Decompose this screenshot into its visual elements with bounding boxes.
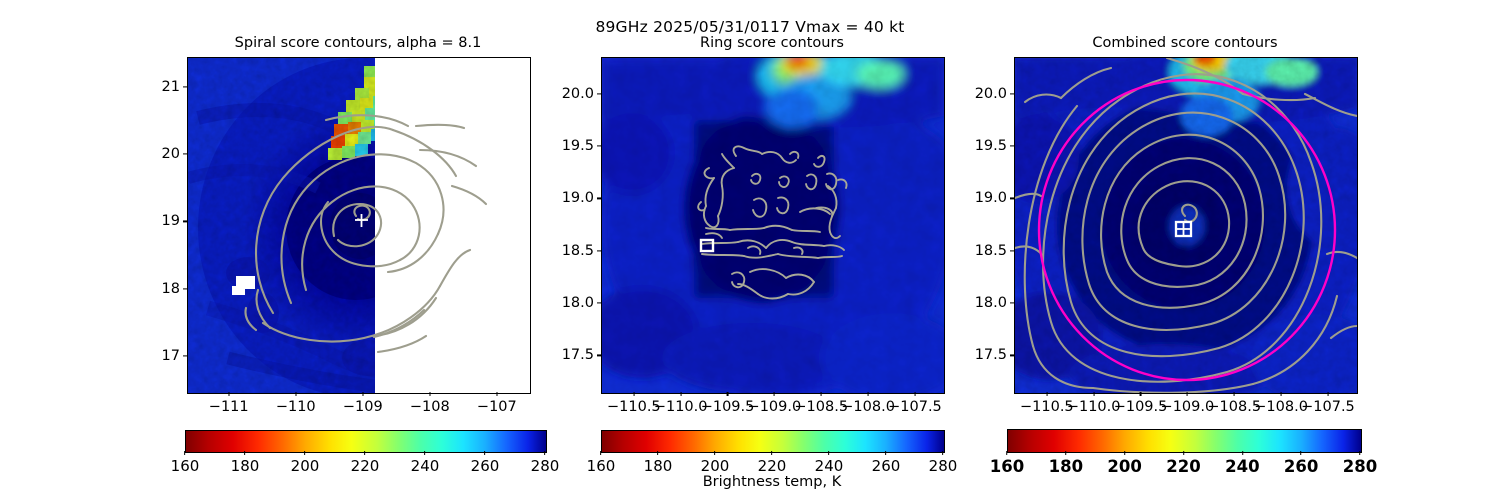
- colorbar-spiral-gradient: [185, 430, 547, 453]
- ring-center-marker: [602, 58, 944, 393]
- panel-combined-axes[interactable]: [1014, 57, 1358, 394]
- panel-ring-score: Ring score contours: [601, 57, 943, 392]
- colorbar-axis-label: Brightness temp, K: [601, 474, 943, 490]
- colorbar-combined-gradient: [1007, 429, 1362, 453]
- spiral-center-marker: [188, 58, 530, 393]
- panel-spiral-score: Spiral score contours, alpha = 8.1: [187, 57, 529, 392]
- figure-canvas: 89GHz 2025/05/31/0117 Vmax = 40 kt Spira…: [0, 0, 1500, 500]
- combined-center-marker: [1015, 58, 1357, 393]
- panel-ring-axes[interactable]: [601, 57, 945, 394]
- figure-suptitle: 89GHz 2025/05/31/0117 Vmax = 40 kt: [0, 18, 1500, 36]
- panel-combined-score: Combined score contours: [1014, 57, 1356, 392]
- panel-spiral-axes[interactable]: [187, 57, 531, 394]
- panel-combined-title: Combined score contours: [1014, 35, 1356, 51]
- panel-ring-title: Ring score contours: [601, 35, 943, 51]
- colorbar-spiral[interactable]: 160 180 200 220 240 260 280: [185, 430, 545, 451]
- colorbar-ring-gradient: [601, 430, 945, 453]
- colorbar-ring[interactable]: 160 180 200 220 240 260 280 Brightness t…: [601, 430, 943, 451]
- colorbar-combined[interactable]: 160 180 200 220 240 260 280: [1007, 429, 1360, 451]
- panel-spiral-title: Spiral score contours, alpha = 8.1: [187, 35, 529, 51]
